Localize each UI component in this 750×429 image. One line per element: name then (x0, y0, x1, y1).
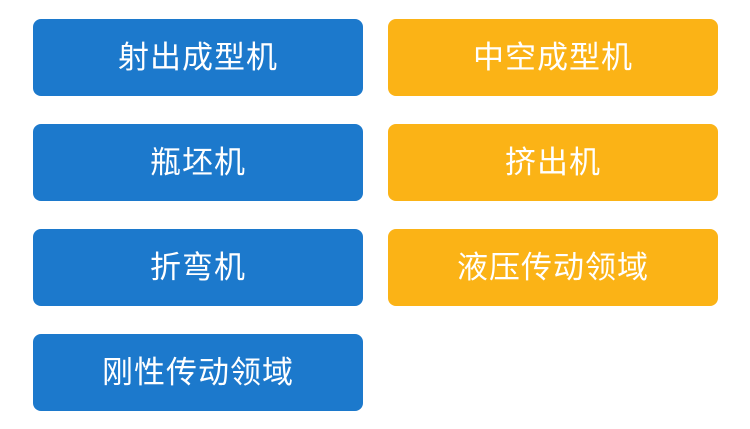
button-preform-machine[interactable]: 瓶坯机 (33, 124, 363, 201)
button-label: 液压传动领域 (457, 252, 649, 283)
button-label: 射出成型机 (118, 42, 278, 73)
button-blow-molding-machine[interactable]: 中空成型机 (388, 19, 718, 96)
button-label: 刚性传动领域 (102, 357, 294, 388)
button-label: 折弯机 (150, 252, 246, 283)
empty-slot (388, 334, 718, 411)
button-injection-molding-machine[interactable]: 射出成型机 (33, 19, 363, 96)
button-rigid-transmission-field[interactable]: 刚性传动领域 (33, 334, 363, 411)
button-extruder[interactable]: 挤出机 (388, 124, 718, 201)
button-bending-machine[interactable]: 折弯机 (33, 229, 363, 306)
button-label: 瓶坯机 (150, 147, 246, 178)
button-hydraulic-transmission-field[interactable]: 液压传动领域 (388, 229, 718, 306)
button-label: 挤出机 (505, 147, 601, 178)
button-grid: 射出成型机 瓶坯机 折弯机 刚性传动领域 中空成型机 挤出机 液压传动领域 (0, 0, 750, 429)
button-label: 中空成型机 (473, 42, 633, 73)
